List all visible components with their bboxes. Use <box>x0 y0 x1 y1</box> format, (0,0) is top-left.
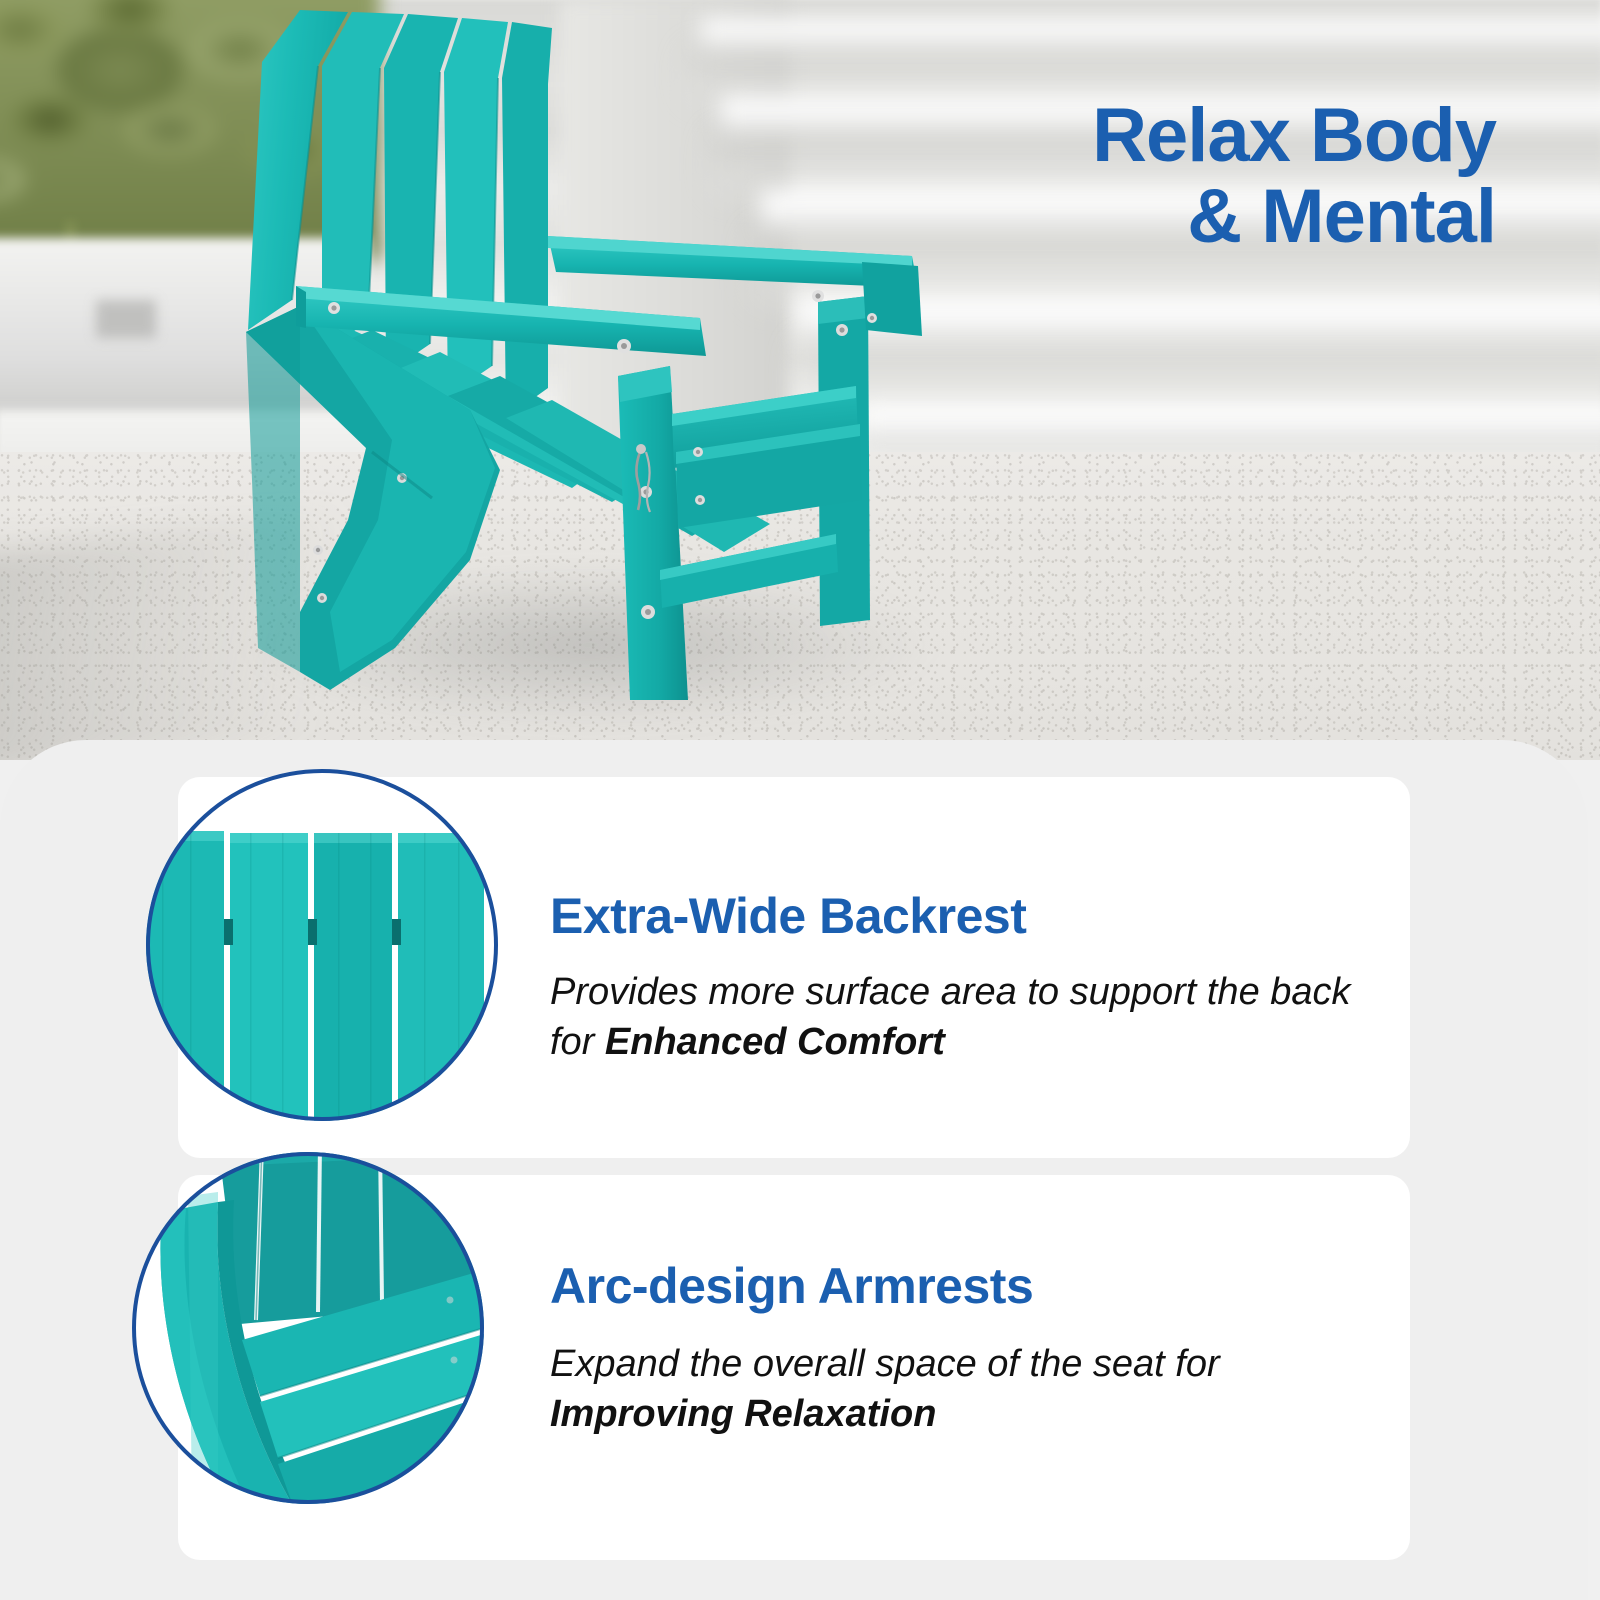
headline-line-1: Relax Body <box>1092 96 1496 177</box>
features-panel: Extra-Wide Backrest Provides more surfac… <box>0 740 1588 1600</box>
feature-description-text: Expand the overall space of the seat for <box>550 1343 1220 1385</box>
feature-title: Extra-Wide Backrest <box>550 887 1026 945</box>
feature-thumbnail-backrest <box>146 769 498 1121</box>
feature-title: Arc-design Armrests <box>550 1257 1033 1315</box>
feature-description: Provides more surface area to support th… <box>550 967 1380 1067</box>
headline-line-2: & Mental <box>1092 177 1496 258</box>
armrest-seat-illustration <box>132 1152 484 1504</box>
feature-thumbnail-armrest <box>132 1152 484 1504</box>
feature-description-emphasis: Enhanced Comfort <box>605 1021 945 1063</box>
feature-description-emphasis: Improving Relaxation <box>550 1393 936 1435</box>
backrest-slats-illustration <box>146 769 498 1121</box>
hero-headline: Relax Body & Mental <box>1092 96 1496 257</box>
feature-description: Expand the overall space of the seat for… <box>550 1339 1380 1439</box>
hero-photo: Relax Body & Mental <box>0 0 1600 760</box>
